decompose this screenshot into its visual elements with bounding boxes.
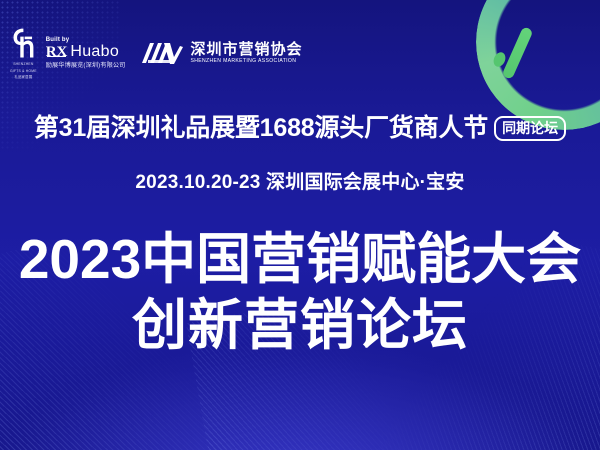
gh-logo-subtext-1: SHENZHEN <box>13 62 33 67</box>
main-title-block: 2023中国营销赋能大会 创新营销论坛 <box>0 226 600 358</box>
forum-badge: 同期论坛 <box>494 116 566 141</box>
headline-row: 第31届深圳礼品展暨1688源头厂货商人节 同期论坛 <box>0 112 600 144</box>
gh-monogram-icon <box>10 26 36 60</box>
rx-company-name-cn: 励展华博展览(深圳)有限公司 <box>46 61 126 70</box>
rx-mark: RX <box>46 44 68 60</box>
gradient-ring-icon <box>476 0 600 130</box>
sma-name-cn: 深圳市营销协会 <box>190 41 302 58</box>
event-poster: SHENZHEN GIFTS & HOME 礼品家居展 Built by RX … <box>0 0 600 450</box>
sma-name-en: SHENZHEN MARKETING ASSOCIATION <box>190 58 302 65</box>
gh-logo-subtext-3: 礼品家居展 <box>14 75 32 80</box>
rx-wordmark: RX Huabo <box>46 44 126 60</box>
green-slash-icon <box>501 26 533 80</box>
rx-huabo-logo: Built by RX Huabo 励展华博展览(深圳)有限公司 <box>46 36 126 70</box>
main-title-line-2: 创新营销论坛 <box>0 292 600 358</box>
gh-monogram-logo: SHENZHEN GIFTS & HOME 礼品家居展 <box>10 26 37 80</box>
rx-huabo-name: Huabo <box>70 44 119 60</box>
sma-emblem-icon <box>140 38 184 68</box>
shenzhen-marketing-association-logo: 深圳市营销协会 SHENZHEN MARKETING ASSOCIATION <box>140 38 302 68</box>
date-venue-line: 2023.10.20-23 深圳国际会展中心·宝安 <box>0 170 600 196</box>
green-dot-icon <box>491 50 507 68</box>
gh-logo-subtext-2: GIFTS & HOME <box>10 69 37 74</box>
sma-text-block: 深圳市营销协会 SHENZHEN MARKETING ASSOCIATION <box>190 41 302 65</box>
headline-text: 第31届深圳礼品展暨1688源头厂货商人节 <box>34 112 488 144</box>
logo-bar: SHENZHEN GIFTS & HOME 礼品家居展 Built by RX … <box>10 26 303 80</box>
main-title-line-1: 2023中国营销赋能大会 <box>0 226 600 292</box>
